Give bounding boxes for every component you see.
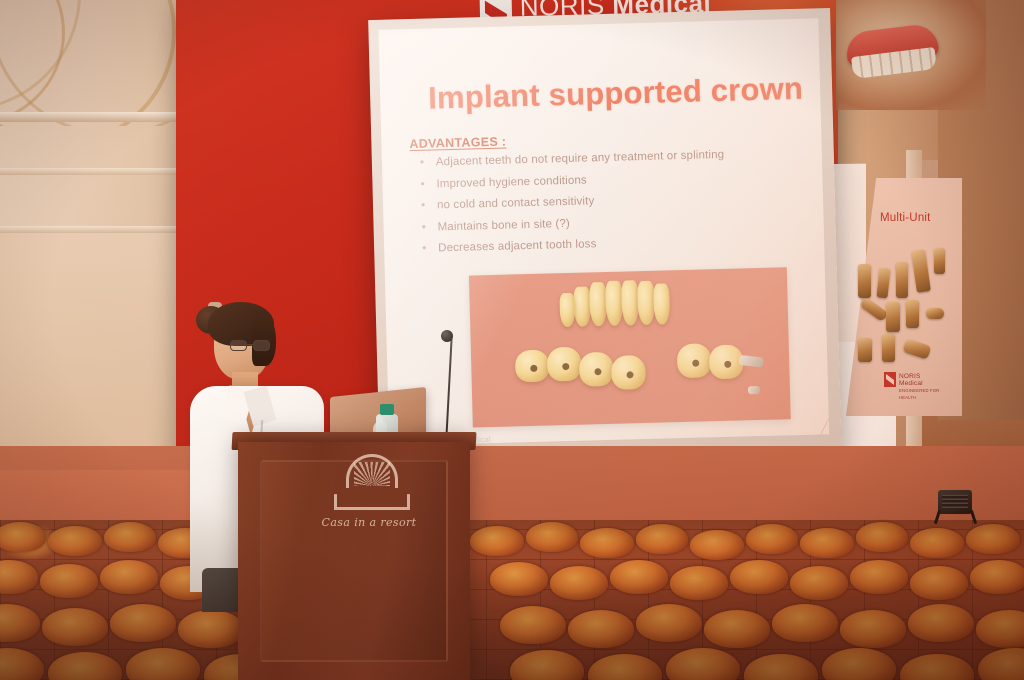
list-item: Maintains bone in site (?) <box>413 212 763 234</box>
projected-slide: Implant supported crown ADVANTAGES : Adj… <box>378 18 829 445</box>
slide-bullet-list: Adjacent teeth do not require any treatm… <box>412 148 765 265</box>
carpet-shading <box>0 520 1024 680</box>
projection-screen: Implant supported crown ADVANTAGES : Adj… <box>368 8 842 472</box>
list-item: no cold and contact sensitivity <box>413 191 763 213</box>
wall-molding <box>0 112 196 122</box>
list-item: Decreases adjacent tooth loss <box>414 234 764 256</box>
podium: Casa in a resort <box>238 442 470 680</box>
multi-unit-label: Multi-Unit <box>880 212 931 224</box>
wall-molding <box>0 168 196 175</box>
bottle-cap <box>380 404 394 415</box>
slide-title: Implant supported crown <box>428 71 804 117</box>
left-wall <box>0 0 196 470</box>
slide-clinical-photo <box>469 267 791 427</box>
hotel-arch-emblem-icon <box>334 454 410 512</box>
microphone-icon <box>441 330 453 342</box>
multi-unit-logo-text: NORIS Medical ENGINEERED FOR HEALTH <box>899 373 946 401</box>
left-wall-lower <box>0 232 196 472</box>
multi-unit-panel-logo: NORIS Medical ENGINEERED FOR HEALTH <box>884 372 946 388</box>
podium-tagline: Casa in a resort <box>294 516 444 529</box>
slide-section-heading: ADVANTAGES : <box>409 135 506 152</box>
list-item: Improved hygiene conditions <box>412 169 762 191</box>
list-item: Adjacent teeth do not require any treatm… <box>412 148 762 170</box>
glasses-icon <box>230 340 274 351</box>
multi-unit-product-grid <box>856 246 958 364</box>
presentation-room-photo: Zygomatic Implants for the Extra Maxilla… <box>0 0 1024 680</box>
arch-molding-decoration <box>0 0 176 126</box>
noris-logo-mark-icon <box>884 372 896 387</box>
floor-uplight <box>934 490 976 524</box>
wall-molding <box>0 226 196 233</box>
uplight-grill-icon <box>942 494 968 508</box>
